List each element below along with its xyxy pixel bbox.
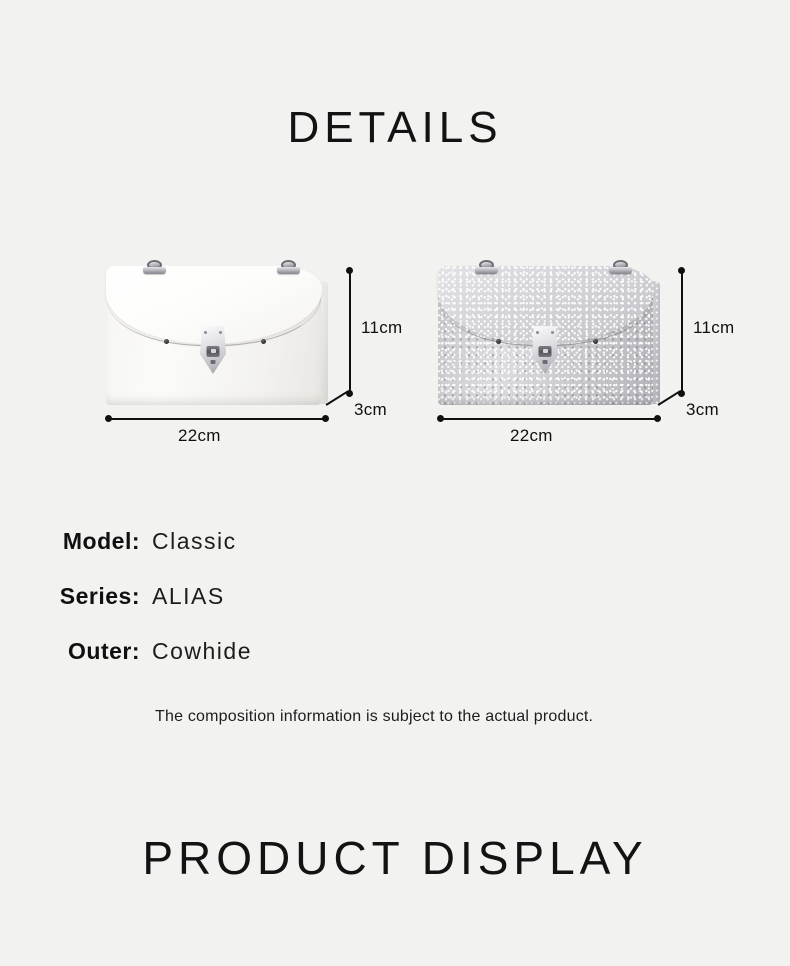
rivet-right-icon	[261, 339, 266, 344]
spec-row-series: Series: ALIAS	[0, 583, 790, 638]
spec-row-outer: Outer: Cowhide	[0, 638, 790, 693]
lug-base	[609, 267, 632, 274]
lug-base	[277, 267, 300, 274]
clasp-emblem	[207, 346, 220, 357]
depth-measure-label: 3cm	[354, 400, 387, 420]
spec-label-outer: Outer:	[0, 638, 140, 665]
spec-label-series: Series:	[0, 583, 140, 610]
width-measure-dot-right	[654, 415, 661, 422]
specification-list: Model: Classic Series: ALIAS Outer: Cowh…	[0, 528, 790, 693]
spec-label-model: Model:	[0, 528, 140, 555]
rivet-left-icon	[496, 339, 501, 344]
height-measure-dot-top	[346, 267, 353, 274]
bag-illustration-white	[106, 260, 339, 408]
lug-base	[475, 267, 498, 274]
shield-clasp-icon	[200, 326, 226, 374]
clasp-screw	[204, 331, 207, 334]
clasp-screw	[551, 331, 554, 334]
depth-measure-label: 3cm	[686, 400, 719, 420]
composition-disclaimer: The composition information is subject t…	[155, 708, 593, 726]
width-measure-label: 22cm	[178, 426, 221, 446]
spec-row-model: Model: Classic	[0, 528, 790, 583]
product-display-heading: PRODUCT DISPLAY	[0, 831, 790, 885]
height-measure-line	[349, 270, 351, 393]
product-figure-white: 11cm 22cm 3cm	[88, 248, 418, 448]
clasp-screw	[536, 331, 539, 334]
spec-value-model: Classic	[152, 528, 237, 555]
rivet-right-icon	[593, 339, 598, 344]
clasp-lock-dot	[543, 360, 548, 364]
clasp-screw	[219, 331, 222, 334]
rivet-left-icon	[164, 339, 169, 344]
strap-lug-left-icon	[472, 260, 502, 272]
width-measure-dot-right	[322, 415, 329, 422]
width-measure-label: 22cm	[510, 426, 553, 446]
strap-lug-right-icon	[606, 260, 636, 272]
height-measure-line	[681, 270, 683, 393]
clasp-emblem	[539, 346, 552, 357]
lug-base	[143, 267, 166, 274]
product-figure-silver: 11cm 22cm 3cm	[420, 248, 750, 448]
strap-lug-left-icon	[140, 260, 170, 272]
clasp-lock-dot	[211, 360, 216, 364]
details-heading: DETAILS	[0, 103, 790, 153]
width-measure-line	[108, 418, 326, 420]
spec-value-series: ALIAS	[152, 583, 225, 610]
bag-illustration-silver	[438, 260, 671, 408]
strap-lug-right-icon	[274, 260, 304, 272]
width-measure-dot-left	[437, 415, 444, 422]
height-measure-label: 11cm	[693, 318, 735, 338]
width-measure-line	[440, 418, 658, 420]
height-measure-dot-top	[678, 267, 685, 274]
spec-value-outer: Cowhide	[152, 638, 252, 665]
height-measure-label: 11cm	[361, 318, 403, 338]
shield-clasp-icon	[532, 326, 558, 374]
width-measure-dot-left	[105, 415, 112, 422]
